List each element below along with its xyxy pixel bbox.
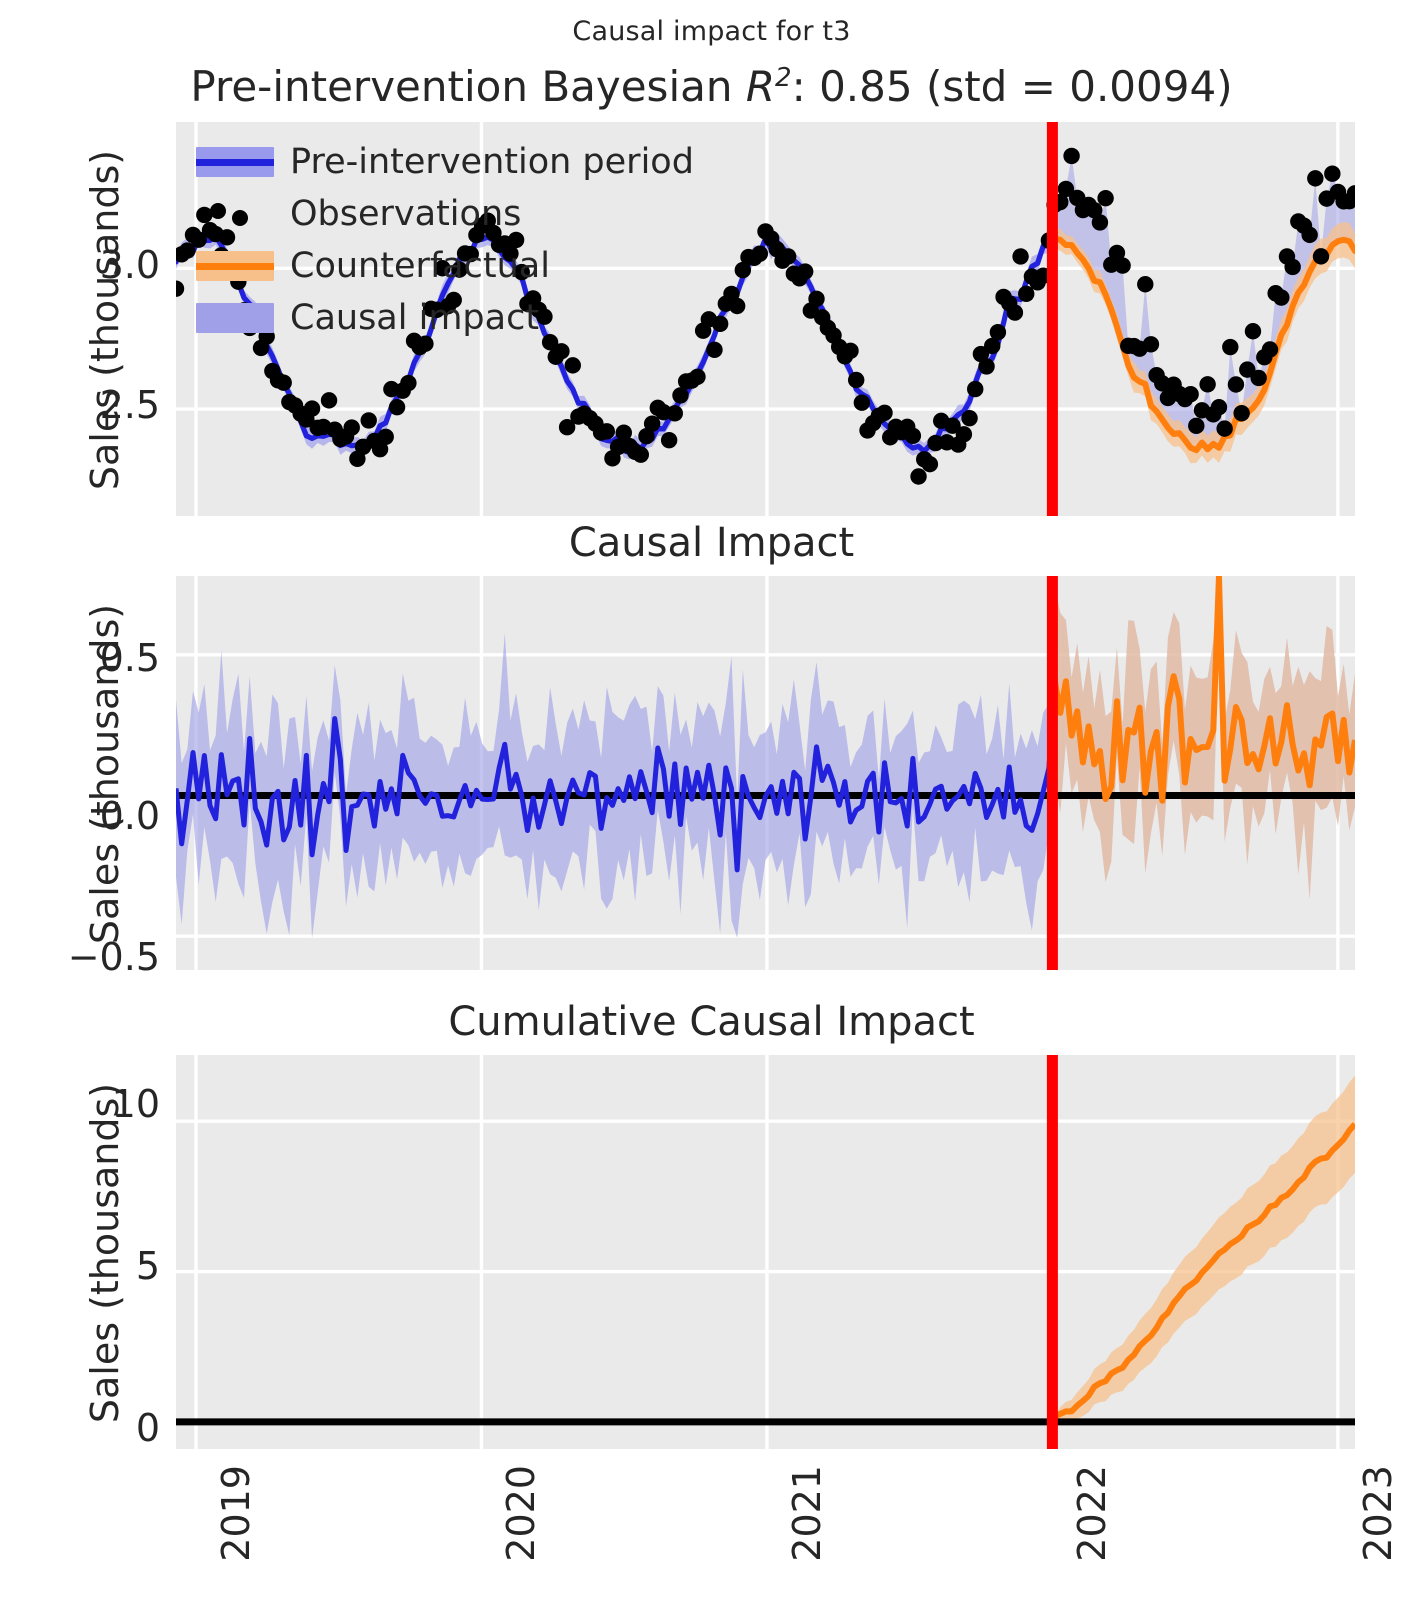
- panel1-ytick-3.0: 3.0: [0, 243, 160, 287]
- x-tick-2023: 2023: [1356, 1465, 1400, 1562]
- legend-band-purple: [196, 303, 274, 333]
- legend-item-counterfactual: Counterfactual: [196, 240, 716, 292]
- panel3-ytick-10: 10: [0, 1082, 160, 1126]
- panel3-ytick-0: 0: [0, 1406, 160, 1450]
- x-tick-2020: 2020: [499, 1465, 543, 1562]
- x-tick-2021: 2021: [785, 1465, 829, 1562]
- legend-item-causal-impact: Causal impact: [196, 292, 716, 344]
- panel3-ytick-5: 5: [0, 1244, 160, 1288]
- legend-line-blue: [196, 159, 274, 166]
- legend-line-orange: [196, 263, 274, 270]
- figure-title: Pre-intervention Bayesian R2: 0.85 (std …: [0, 62, 1423, 111]
- legend-label-pre-intervention: Pre-intervention period: [290, 142, 694, 182]
- legend-scatter-icon: [196, 199, 274, 229]
- x-tick-2019: 2019: [214, 1465, 258, 1562]
- legend-item-pre-intervention: Pre-intervention period: [196, 136, 716, 188]
- legend-label-counterfactual: Counterfactual: [290, 246, 550, 286]
- panel1-ytick-2.5: 2.5: [0, 383, 160, 427]
- panel2-ytick-0.0: 0.0: [0, 794, 160, 838]
- legend-key-causal-impact: [196, 303, 274, 333]
- figure-suptitle: Causal impact for t3: [0, 16, 1423, 47]
- panel-cumulative-causal-impact: [176, 1055, 1355, 1449]
- title-r-symbol: R: [746, 62, 775, 111]
- legend: Pre-intervention period Observations Cou…: [196, 136, 716, 344]
- legend-label-observations: Observations: [290, 194, 521, 234]
- panel2-title: Causal Impact: [0, 520, 1423, 566]
- title-exponent: 2: [775, 63, 792, 93]
- legend-key-counterfactual: [196, 251, 274, 281]
- legend-label-causal-impact: Causal impact: [290, 298, 539, 338]
- panel3-title: Cumulative Causal Impact: [0, 999, 1423, 1045]
- panel3-plot: [176, 1055, 1355, 1449]
- panel2-plot: [176, 576, 1355, 970]
- panel2-ytick-0.5: 0.5: [0, 636, 160, 680]
- panel-causal-impact: [176, 576, 1355, 970]
- x-tick-2022: 2022: [1070, 1465, 1114, 1562]
- legend-key-pre-intervention: [196, 147, 274, 177]
- title-suffix: : 0.85 (std = 0.0094): [792, 62, 1233, 111]
- title-prefix: Pre-intervention Bayesian: [190, 62, 745, 111]
- panel2-ytick-minus-0.5: −0.5: [0, 935, 160, 979]
- legend-key-observations: [196, 199, 274, 229]
- causal-impact-figure: Causal impact for t3 Pre-intervention Ba…: [0, 0, 1423, 1623]
- panel1-y-axis-label: Sales (thousands): [83, 110, 127, 530]
- panel2-y-axis-label: Sales (thousands): [83, 564, 127, 984]
- legend-dots-black: [196, 199, 274, 229]
- legend-item-observations: Observations: [196, 188, 716, 240]
